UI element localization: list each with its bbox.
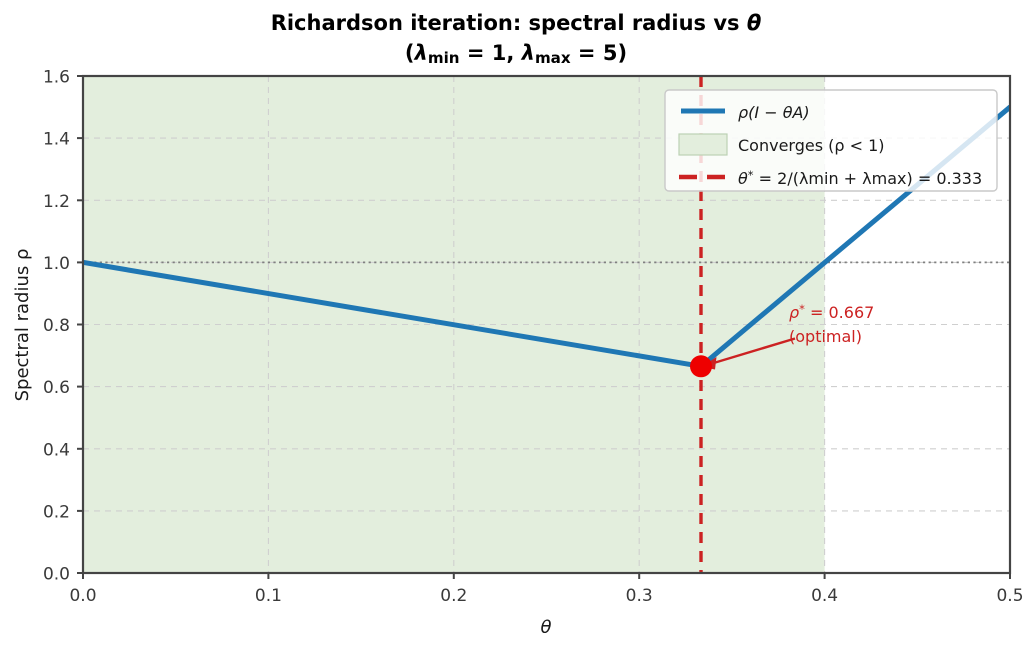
chart-figure: Richardson iteration: spectral radius vs… [0, 0, 1033, 652]
annotation-optimal-label: (optimal) [789, 327, 862, 346]
y-tick-label: 1.6 [43, 68, 70, 88]
annotation-rho-symbol: ρ [789, 303, 799, 322]
y-axis: 0.0 0.2 0.4 0.6 0.8 1.0 1.2 1.4 1.6 [43, 68, 83, 585]
legend-swatch-patch [679, 134, 727, 155]
y-tick-label: 0.2 [43, 502, 70, 522]
subtitle-eq2: = 5 [571, 41, 618, 65]
y-tick-label: 0.8 [43, 316, 70, 336]
x-axis-label: θ [540, 617, 551, 638]
x-tick-label: 0.2 [440, 586, 467, 606]
optimal-point-marker [690, 355, 712, 377]
subtitle-close: ) [617, 41, 627, 65]
chart-legend: ρ(I − θA) Converges (ρ < 1) θ* = 2/(λmin… [665, 90, 997, 191]
x-tick-label: 0.1 [255, 586, 282, 606]
subtitle-lambda1: λ [414, 41, 428, 65]
x-tick-label: 0.0 [69, 586, 96, 606]
y-tick-label: 1.4 [43, 130, 70, 150]
x-tick-label: 0.4 [811, 586, 838, 606]
legend-theta-symbol: θ [738, 169, 748, 188]
y-tick-label: 1.2 [43, 192, 70, 212]
subtitle-lambda2: λ [521, 41, 535, 65]
chart-title-text: Richardson iteration: spectral radius vs [271, 11, 747, 35]
subtitle-min: min [428, 49, 460, 67]
legend-label-converges: Converges (ρ < 1) [738, 136, 885, 155]
x-axis: 0.0 0.1 0.2 0.3 0.4 0.5 [69, 573, 1023, 606]
chart-title: Richardson iteration: spectral radius vs… [271, 11, 762, 35]
chart-title-theta: θ [747, 11, 761, 35]
subtitle-eq1: = 1, [460, 41, 522, 65]
annotation-value: = 0.667 [805, 303, 874, 322]
subtitle-max: max [535, 49, 571, 67]
legend-rho-expr: (I − θA) [748, 103, 810, 122]
legend-rho-symbol: ρ [738, 103, 748, 122]
legend-label-theta-star: θ* = 2/(λmin + λmax) = 0.333 [738, 168, 982, 188]
x-tick-label: 0.5 [996, 586, 1023, 606]
y-tick-label: 0.4 [43, 440, 70, 460]
subtitle-open: ( [405, 41, 415, 65]
y-tick-label: 1.0 [43, 254, 70, 274]
y-axis-label: Spectral radius ρ [12, 249, 33, 402]
x-tick-label: 0.3 [626, 586, 653, 606]
y-tick-label: 0.6 [43, 378, 70, 398]
chart-svg: Richardson iteration: spectral radius vs… [0, 0, 1033, 652]
y-tick-label: 0.0 [43, 565, 70, 585]
chart-subtitle: (λmin = 1, λmax = 5) [405, 41, 627, 67]
legend-theta-expr: = 2/(λmin + λmax) = 0.333 [754, 169, 983, 188]
legend-label-spectral-radius: ρ(I − θA) [738, 103, 810, 122]
